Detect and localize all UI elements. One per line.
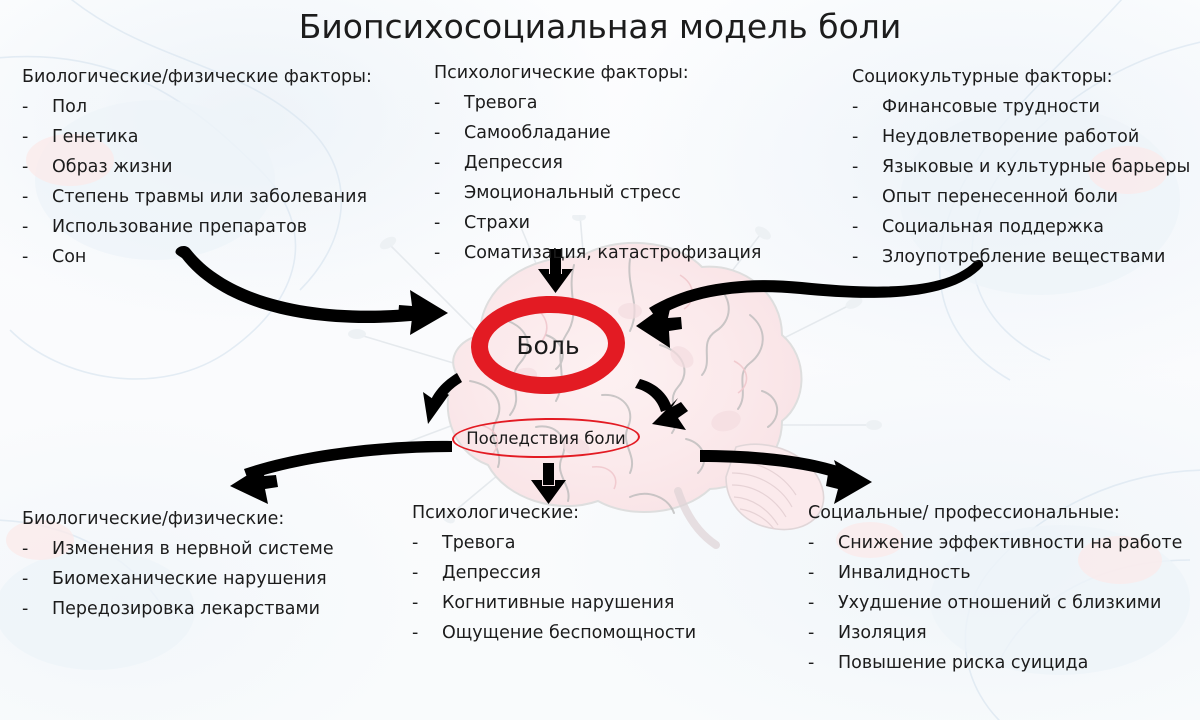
list-item-label: Повышение риска суицида bbox=[838, 648, 1088, 678]
block-list: -Тревога -Самообладание -Депрессия -Эмоц… bbox=[434, 88, 761, 268]
list-item-label: Сон bbox=[52, 242, 86, 272]
block-list: -Пол -Генетика -Образ жизни -Степень тра… bbox=[22, 92, 372, 272]
arrow-consequences-to-bio-bottom bbox=[230, 441, 452, 504]
bullet-dash: - bbox=[22, 212, 52, 242]
bullet-dash: - bbox=[808, 558, 838, 588]
bullet-dash: - bbox=[412, 528, 442, 558]
bullet-dash: - bbox=[852, 122, 882, 152]
list-item: -Депрессия bbox=[412, 558, 696, 588]
bullet-dash: - bbox=[434, 208, 464, 238]
bullet-dash: - bbox=[22, 534, 52, 564]
list-item-label: Соматизация, катастрофизация bbox=[464, 238, 761, 268]
bullet-dash: - bbox=[22, 122, 52, 152]
bullet-dash: - bbox=[434, 118, 464, 148]
list-item: -Образ жизни bbox=[22, 152, 372, 182]
list-item: -Использование препаратов bbox=[22, 212, 372, 242]
bullet-dash: - bbox=[852, 212, 882, 242]
arrow-pain-to-consequences-left bbox=[423, 373, 462, 424]
bullet-dash: - bbox=[852, 242, 882, 272]
list-item-label: Инвалидность bbox=[838, 558, 971, 588]
list-item: -Самообладание bbox=[434, 118, 761, 148]
list-item: -Снижение эффективности на работе bbox=[808, 528, 1182, 558]
list-item: -Тревога bbox=[412, 528, 696, 558]
list-item-label: Тревога bbox=[442, 528, 516, 558]
bullet-dash: - bbox=[808, 648, 838, 678]
list-item-label: Самообладание bbox=[464, 118, 611, 148]
list-item-label: Страхи bbox=[464, 208, 530, 238]
list-item: -Ухудшение отношений с близкими bbox=[808, 588, 1182, 618]
block-psychological-consequences: Психологические: -Тревога -Депрессия -Ко… bbox=[412, 498, 696, 648]
list-item: -Биомеханические нарушения bbox=[22, 564, 334, 594]
list-item: -Соматизация, катастрофизация bbox=[434, 238, 761, 268]
block-list: -Тревога -Депрессия -Когнитивные нарушен… bbox=[412, 528, 696, 648]
list-item-label: Социальная поддержка bbox=[882, 212, 1104, 242]
bullet-dash: - bbox=[808, 588, 838, 618]
list-item-label: Депрессия bbox=[464, 148, 563, 178]
list-item: -Инвалидность bbox=[808, 558, 1182, 588]
list-item-label: Биомеханические нарушения bbox=[52, 564, 327, 594]
block-social-consequences: Социальные/ профессиональные: -Снижение … bbox=[808, 498, 1182, 678]
slide-canvas: Биопсихосоциальная модель боли bbox=[0, 0, 1200, 720]
list-item-label: Когнитивные нарушения bbox=[442, 588, 674, 618]
pain-label: Боль bbox=[471, 296, 625, 394]
list-item-label: Депрессия bbox=[442, 558, 541, 588]
consequences-label: Последствия боли bbox=[452, 418, 640, 458]
block-psychological-factors: Психологические факторы: -Тревога -Самоо… bbox=[434, 58, 761, 268]
list-item: -Социальная поддержка bbox=[852, 212, 1190, 242]
block-list: -Изменения в нервной системе -Биомеханич… bbox=[22, 534, 334, 624]
block-biological-consequences: Биологические/физические: -Изменения в н… bbox=[22, 504, 334, 624]
bullet-dash: - bbox=[22, 242, 52, 272]
bullet-dash: - bbox=[22, 182, 52, 212]
list-item: -Языковые и культурные барьеры bbox=[852, 152, 1190, 182]
list-item-label: Неудовлетворение работой bbox=[882, 122, 1139, 152]
block-heading: Психологические факторы: bbox=[434, 58, 761, 88]
block-heading: Биологические/физические факторы: bbox=[22, 62, 372, 92]
arrow-consequences-to-social-bottom bbox=[700, 450, 872, 504]
bullet-dash: - bbox=[22, 152, 52, 182]
block-list: -Снижение эффективности на работе -Инвал… bbox=[808, 528, 1182, 678]
list-item: -Депрессия bbox=[434, 148, 761, 178]
list-item-label: Изменения в нервной системе bbox=[52, 534, 334, 564]
list-item-label: Пол bbox=[52, 92, 87, 122]
list-item: -Изменения в нервной системе bbox=[22, 534, 334, 564]
list-item: -Злоупотребление веществами bbox=[852, 242, 1190, 272]
list-item: -Ощущение беспомощности bbox=[412, 618, 696, 648]
bullet-dash: - bbox=[412, 618, 442, 648]
bullet-dash: - bbox=[852, 92, 882, 122]
list-item: -Тревога bbox=[434, 88, 761, 118]
bullet-dash: - bbox=[808, 618, 838, 648]
page-title: Биопсихосоциальная модель боли bbox=[0, 6, 1200, 48]
bullet-dash: - bbox=[434, 88, 464, 118]
list-item-label: Степень травмы или заболевания bbox=[52, 182, 367, 212]
block-list: -Финансовые трудности -Неудовлетворение … bbox=[852, 92, 1190, 272]
bullet-dash: - bbox=[22, 594, 52, 624]
block-biological-factors: Биологические/физические факторы: -Пол -… bbox=[22, 62, 372, 272]
list-item: -Сон bbox=[22, 242, 372, 272]
list-item: -Финансовые трудности bbox=[852, 92, 1190, 122]
list-item: -Степень травмы или заболевания bbox=[22, 182, 372, 212]
bullet-dash: - bbox=[808, 528, 838, 558]
list-item-label: Изоляция bbox=[838, 618, 927, 648]
list-item-label: Передозировка лекарствами bbox=[52, 594, 320, 624]
list-item: -Когнитивные нарушения bbox=[412, 588, 696, 618]
list-item-label: Финансовые трудности bbox=[882, 92, 1100, 122]
block-heading: Социальные/ профессиональные: bbox=[808, 498, 1182, 528]
list-item-label: Ощущение беспомощности bbox=[442, 618, 696, 648]
list-item: -Генетика bbox=[22, 122, 372, 152]
list-item: -Изоляция bbox=[808, 618, 1182, 648]
list-item-label: Эмоциональный стресс bbox=[464, 178, 681, 208]
block-heading: Социокультурные факторы: bbox=[852, 62, 1190, 92]
bullet-dash: - bbox=[412, 588, 442, 618]
list-item-label: Тревога bbox=[464, 88, 538, 118]
list-item-label: Генетика bbox=[52, 122, 139, 152]
list-item: -Эмоциональный стресс bbox=[434, 178, 761, 208]
list-item: -Передозировка лекарствами bbox=[22, 594, 334, 624]
bullet-dash: - bbox=[434, 238, 464, 268]
list-item-label: Ухудшение отношений с близкими bbox=[838, 588, 1161, 618]
list-item: -Пол bbox=[22, 92, 372, 122]
block-heading: Биологические/физические: bbox=[22, 504, 334, 534]
arrow-pain-to-consequences-right bbox=[635, 379, 688, 430]
list-item: -Страхи bbox=[434, 208, 761, 238]
bullet-dash: - bbox=[434, 178, 464, 208]
block-sociocultural-factors: Социокультурные факторы: -Финансовые тру… bbox=[852, 62, 1190, 272]
list-item: -Неудовлетворение работой bbox=[852, 122, 1190, 152]
bullet-dash: - bbox=[434, 148, 464, 178]
list-item-label: Злоупотребление веществами bbox=[882, 242, 1165, 272]
list-item-label: Использование препаратов bbox=[52, 212, 307, 242]
list-item-label: Снижение эффективности на работе bbox=[838, 528, 1182, 558]
bullet-dash: - bbox=[852, 152, 882, 182]
bullet-dash: - bbox=[412, 558, 442, 588]
bullet-dash: - bbox=[22, 564, 52, 594]
bullet-dash: - bbox=[852, 182, 882, 212]
list-item-label: Языковые и культурные барьеры bbox=[882, 152, 1190, 182]
block-heading: Психологические: bbox=[412, 498, 696, 528]
list-item: -Опыт перенесенной боли bbox=[852, 182, 1190, 212]
bullet-dash: - bbox=[22, 92, 52, 122]
list-item: -Повышение риска суицида bbox=[808, 648, 1182, 678]
list-item-label: Опыт перенесенной боли bbox=[882, 182, 1118, 212]
list-item-label: Образ жизни bbox=[52, 152, 173, 182]
arrow-socio-top-to-pain bbox=[636, 260, 983, 348]
